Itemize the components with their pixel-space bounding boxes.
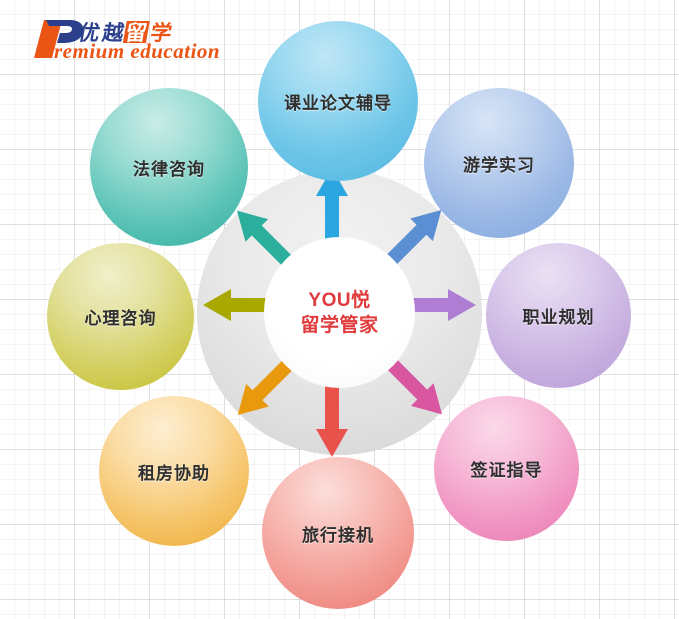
- node-label-visa-guidance: 签证指导: [471, 456, 543, 481]
- node-rental-assist[interactable]: 租房协助: [99, 396, 249, 546]
- node-psych-counseling[interactable]: 心理咨询: [47, 243, 194, 390]
- brand-logo: 优 越 留 学 remium education: [24, 14, 264, 62]
- node-label-psych-counseling: 心理咨询: [85, 304, 157, 329]
- node-label-career-planning: 职业规划: [523, 303, 595, 328]
- node-label-airport-pickup: 旅行接机: [302, 521, 374, 546]
- hub-center[interactable]: YOU悦 留学管家: [264, 237, 415, 388]
- logo-artwork: 优 越 留 学 remium education: [24, 14, 264, 62]
- node-career-planning[interactable]: 职业规划: [486, 243, 631, 388]
- node-legal-consulting[interactable]: 法律咨询: [90, 88, 248, 246]
- node-label-study-tour: 游学实习: [463, 151, 535, 176]
- node-study-tour[interactable]: 游学实习: [424, 88, 574, 238]
- node-label-academic-tutoring: 课业论文辅导: [284, 89, 392, 114]
- node-label-legal-consulting: 法律咨询: [133, 155, 205, 180]
- logo-tagline: remium education: [54, 39, 220, 62]
- node-visa-guidance[interactable]: 签证指导: [434, 396, 579, 541]
- node-label-rental-assist: 租房协助: [138, 459, 210, 484]
- hub-title-line2: 留学管家: [300, 313, 378, 338]
- node-airport-pickup[interactable]: 旅行接机: [262, 457, 414, 609]
- svg-text:remium education: remium education: [54, 39, 220, 62]
- node-academic-tutoring[interactable]: 课业论文辅导: [258, 21, 418, 181]
- hub-title-line1: YOU悦: [308, 288, 370, 313]
- diagram-canvas: 优 越 留 学 remium education: [0, 0, 679, 619]
